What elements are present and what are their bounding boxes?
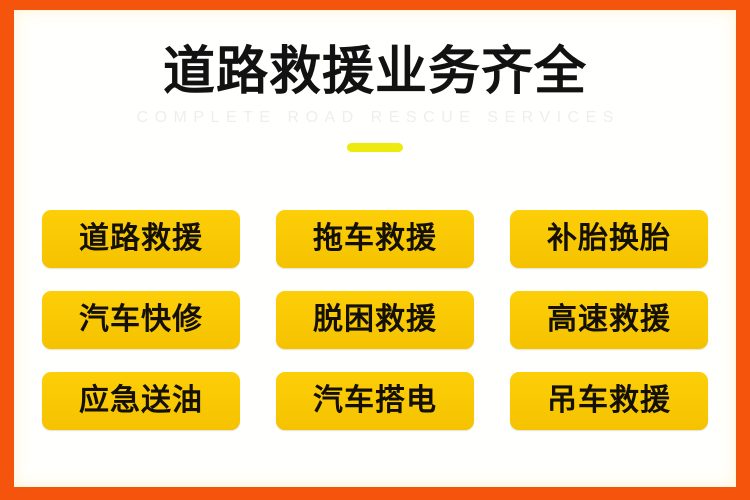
poster-frame: 道路救援业务齐全 COMPLETE ROAD RESCUE SERVICES 道…	[0, 0, 750, 500]
service-button-highway-rescue[interactable]: 高速救援	[510, 291, 708, 349]
service-button-extraction-rescue[interactable]: 脱困救援	[276, 291, 474, 349]
service-button-emergency-fuel-delivery[interactable]: 应急送油	[42, 372, 240, 430]
page-subtitle: COMPLETE ROAD RESCUE SERVICES	[14, 100, 736, 127]
service-button-quick-car-repair[interactable]: 汽车快修	[42, 291, 240, 349]
page-title: 道路救援业务齐全	[14, 10, 736, 100]
accent-bar	[347, 143, 403, 152]
poster-canvas: 道路救援业务齐全 COMPLETE ROAD RESCUE SERVICES 道…	[14, 10, 736, 487]
accent-bar-container	[14, 127, 736, 149]
service-button-crane-rescue[interactable]: 吊车救援	[510, 372, 708, 430]
service-button-road-rescue[interactable]: 道路救援	[42, 210, 240, 268]
service-button-tire-repair-replace[interactable]: 补胎换胎	[510, 210, 708, 268]
service-button-tow-rescue[interactable]: 拖车救援	[276, 210, 474, 268]
service-button-grid: 道路救援 拖车救援 补胎换胎 汽车快修 脱困救援 高速救援 应急送油 汽车搭电 …	[42, 210, 708, 430]
service-button-jump-start[interactable]: 汽车搭电	[276, 372, 474, 430]
header-block: 道路救援业务齐全 COMPLETE ROAD RESCUE SERVICES	[14, 10, 736, 149]
